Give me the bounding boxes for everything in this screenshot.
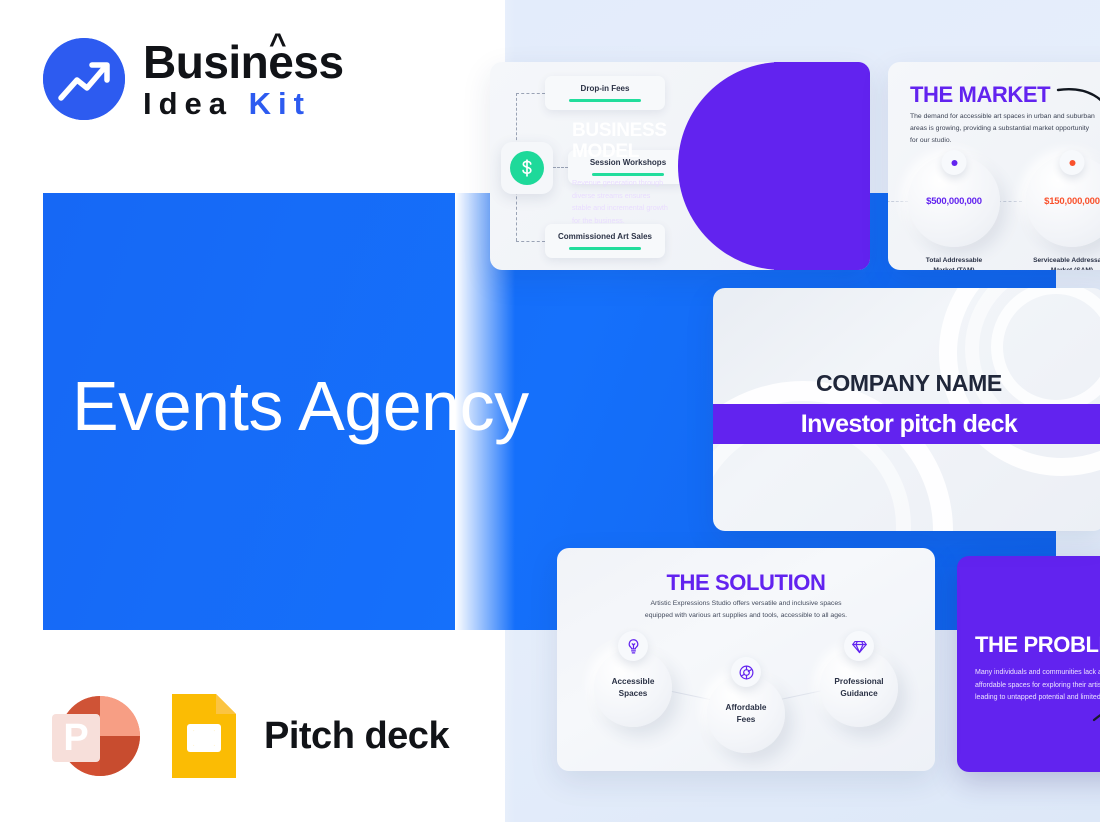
business-model-title-line2: MODEL: [572, 141, 667, 162]
logo-circumflex-accent: ^: [269, 30, 286, 60]
business-model-title-line1: BUSINESS: [572, 120, 667, 141]
business-model-hub: [501, 142, 553, 194]
market-metric[interactable]: $500,000,000 Total Addressable Market (T…: [904, 155, 1004, 270]
diamond-icon: [844, 631, 874, 661]
market-metric-caption: Total Addressable Market (TAM): [926, 256, 982, 270]
solution-item-disc: Accessible Spaces: [594, 649, 672, 727]
market-metric-value: $150,000,000: [1044, 196, 1100, 207]
market-metric-disc: $500,000,000: [908, 155, 1000, 247]
metric-knob: [1060, 150, 1085, 175]
microsoft-powerpoint-icon: P: [48, 688, 144, 784]
logo-line-2: Idea Kit: [143, 88, 344, 119]
logo-line-2-text: Idea: [143, 86, 249, 121]
market-title: THE MARKET: [910, 82, 1050, 108]
connector-line-node3: [516, 241, 545, 242]
lightbulb-icon: [618, 631, 648, 661]
slide-cover[interactable]: COMPANY NAME Investor pitch deck: [713, 288, 1100, 531]
caption-line-1: Serviceable Addressable: [1033, 256, 1100, 266]
revenue-node[interactable]: Drop-in Fees: [545, 76, 665, 110]
solution-items: Accessible Spaces: [557, 633, 935, 763]
label-line-1: Affordable: [726, 702, 767, 714]
market-metric-caption: Serviceable Addressable Market (SAM): [1033, 256, 1100, 270]
logo-line-2-accent: Kit: [249, 86, 311, 121]
label-line-2: Guidance: [834, 688, 883, 700]
cover-subtitle-band: Investor pitch deck: [713, 404, 1100, 444]
cover-subtitle: Investor pitch deck: [801, 410, 1017, 439]
market-metric-value: $500,000,000: [926, 196, 982, 207]
slide-the-market[interactable]: THE MARKET The demand for accessible art…: [888, 62, 1100, 270]
solution-item[interactable]: Accessible Spaces: [594, 649, 672, 727]
market-metric-disc: $150,000,000: [1026, 155, 1100, 247]
purple-rounded-shape: [678, 62, 870, 270]
caption-line-2: Market (TAM): [926, 266, 982, 270]
solution-item-label: Professional Guidance: [834, 676, 883, 700]
revenue-node[interactable]: Commissioned Art Sales: [545, 224, 665, 258]
business-model-description: Revenue generation through diverse strea…: [572, 177, 670, 227]
slide-business-model[interactable]: Drop-in Fees Session Workshops Commissio…: [490, 62, 870, 270]
solution-item-label: Accessible Spaces: [612, 676, 655, 700]
connector-line-node1: [516, 93, 545, 94]
caption-line-2: Market (SAM): [1033, 266, 1100, 270]
revenue-node-label: Commissioned Art Sales: [558, 232, 652, 241]
solution-item[interactable]: Affordable Fees: [707, 675, 785, 753]
caption-line-1: Total Addressable: [926, 256, 982, 266]
revenue-node-label: Drop-in Fees: [581, 84, 630, 93]
curved-arrow-icon: [1056, 84, 1100, 134]
problem-title: THE PROBLEM: [975, 632, 1100, 658]
logo-line-1-text: Business: [143, 36, 344, 88]
node-underline: [592, 173, 664, 175]
pie-chart-icon: [731, 657, 761, 687]
business-model-title: BUSINESS MODEL: [572, 120, 667, 163]
node-underline: [569, 247, 641, 249]
label-line-1: Accessible: [612, 676, 655, 688]
solution-item-label: Affordable Fees: [726, 702, 767, 726]
metric-dot: [951, 160, 957, 166]
solution-title: THE SOLUTION: [557, 570, 935, 596]
format-badge-label: Pitch deck: [264, 715, 449, 758]
metric-knob: [942, 150, 967, 175]
slide-the-solution[interactable]: THE SOLUTION Artistic Expressions Studio…: [557, 548, 935, 771]
metric-dot: [1069, 160, 1075, 166]
label-line-2: Fees: [726, 714, 767, 726]
svg-text:P: P: [63, 717, 88, 759]
company-name: COMPANY NAME: [713, 370, 1100, 397]
solution-description: Artistic Expressions Studio offers versa…: [639, 598, 854, 622]
brand-logo: Business ^ Idea Kit: [43, 38, 344, 120]
label-line-2: Spaces: [612, 688, 655, 700]
market-metrics: $500,000,000 Total Addressable Market (T…: [904, 155, 1100, 270]
solution-item-disc: Professional Guidance: [820, 649, 898, 727]
logo-line-1: Business ^: [143, 39, 344, 85]
dollar-sign-icon: [510, 151, 544, 185]
connector-line-bottom: [516, 186, 517, 241]
solution-item[interactable]: Professional Guidance: [820, 649, 898, 727]
poster-canvas: Events Agency Business ^ Idea Kit: [0, 0, 1100, 822]
problem-description: Many individuals and communities lack ac…: [975, 667, 1100, 705]
label-line-1: Professional: [834, 676, 883, 688]
google-slides-icon: [168, 690, 240, 782]
connector-line-node2: [553, 167, 568, 168]
slide-the-problem[interactable]: THE PROBLEM Many individuals and communi…: [957, 556, 1100, 772]
decorative-swoosh: [1092, 690, 1100, 730]
node-underline: [569, 99, 641, 101]
solution-item-disc: Affordable Fees: [707, 675, 785, 753]
format-badges: P Pitch deck: [48, 688, 449, 784]
market-metric[interactable]: $150,000,000 Serviceable Addressable Mar…: [1022, 155, 1100, 270]
growth-arrow-chart-icon: [43, 38, 125, 120]
